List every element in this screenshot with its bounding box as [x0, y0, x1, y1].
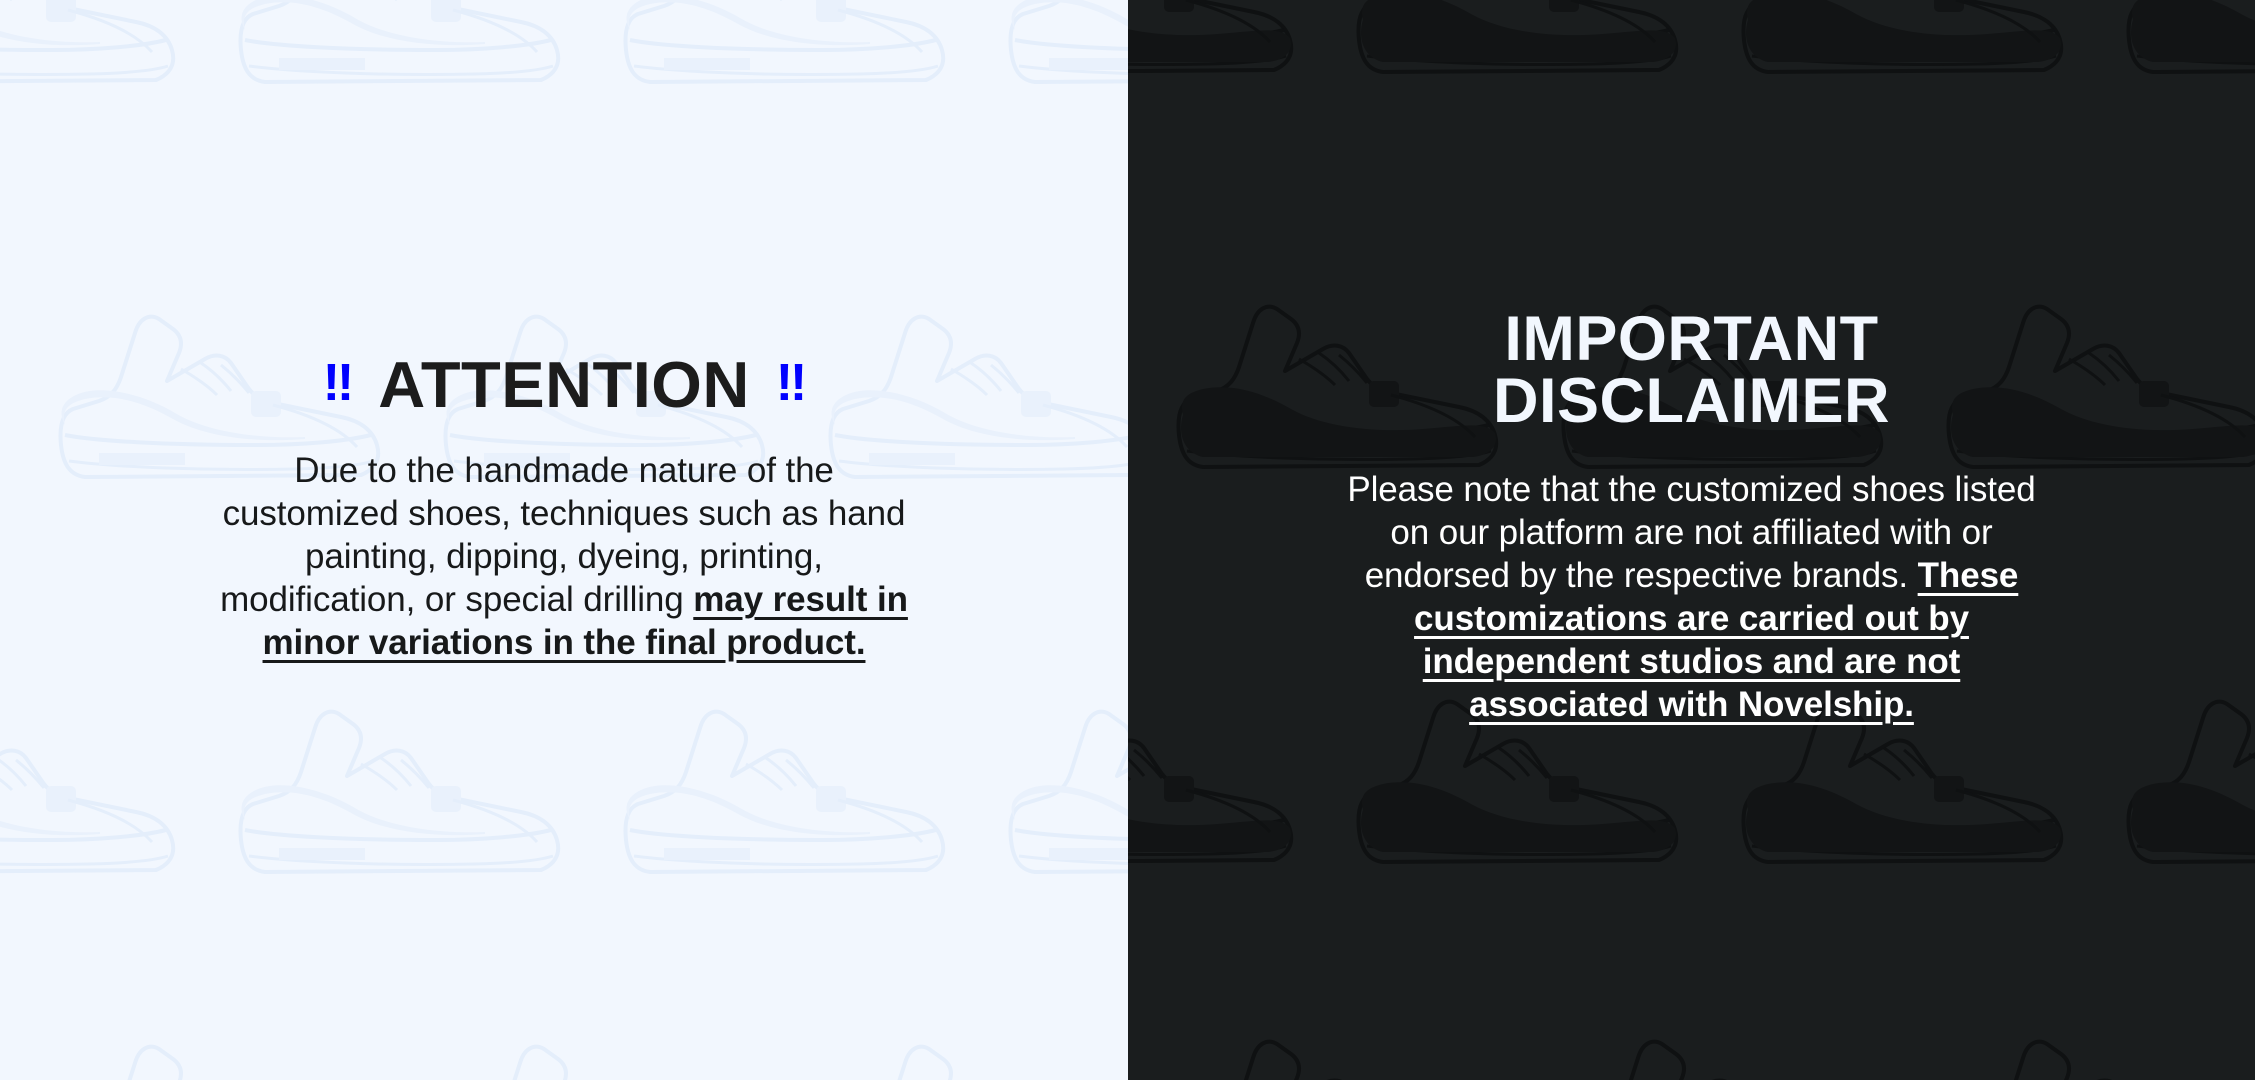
disclaimer-heading-line-2: DISCLAIMER: [1493, 370, 1890, 432]
disclaimer-panel: IMPORTANT DISCLAIMER Please note that th…: [1128, 0, 2255, 1080]
disclaimer-banner: ‼ ATTENTION ‼ Due to the handmade nature…: [0, 0, 2255, 1080]
attention-heading: ‼ ATTENTION ‼: [323, 352, 805, 417]
disclaimer-content: IMPORTANT DISCLAIMER Please note that th…: [1128, 0, 2255, 1080]
double-exclamation-right-icon: ‼: [776, 357, 805, 409]
disclaimer-body: Please note that the customized shoes li…: [1342, 468, 2042, 726]
attention-content: ‼ ATTENTION ‼ Due to the handmade nature…: [0, 0, 1128, 1080]
disclaimer-heading-line-1: IMPORTANT: [1493, 308, 1890, 370]
double-exclamation-left-icon: ‼: [323, 357, 352, 409]
attention-panel: ‼ ATTENTION ‼ Due to the handmade nature…: [0, 0, 1128, 1080]
attention-body: Due to the handmade nature of the custom…: [214, 449, 914, 664]
attention-heading-word: ATTENTION: [378, 352, 750, 417]
disclaimer-heading: IMPORTANT DISCLAIMER: [1493, 308, 1890, 432]
